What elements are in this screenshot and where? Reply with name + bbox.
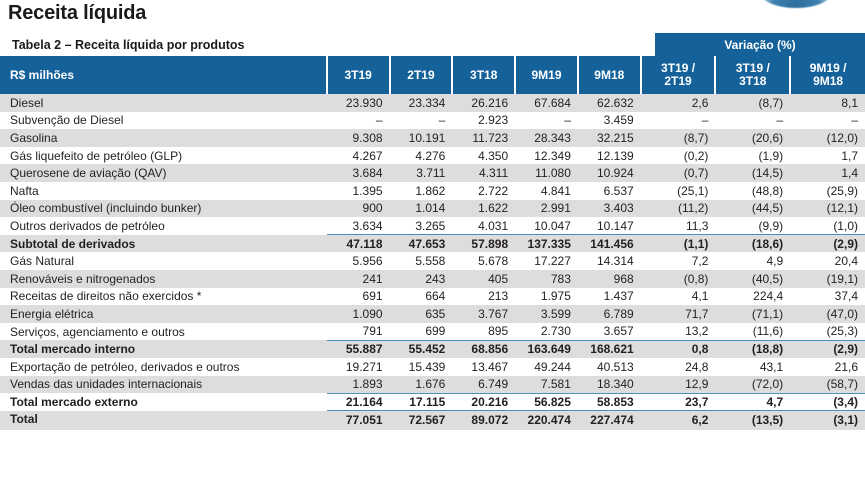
cell-value: 4.350 bbox=[452, 147, 515, 165]
cell-value: 72.567 bbox=[390, 411, 453, 429]
cell-value: 67.684 bbox=[515, 94, 578, 112]
cell-value: (18,8) bbox=[715, 340, 790, 358]
cell-value: 6.749 bbox=[452, 376, 515, 394]
cell-value: 5.558 bbox=[390, 252, 453, 270]
cell-value: 405 bbox=[452, 270, 515, 288]
variation-group-header: Variação (%) bbox=[655, 33, 865, 56]
row-label: Gás liquefeito de petróleo (GLP) bbox=[0, 147, 327, 165]
cell-value: (11,2) bbox=[641, 200, 716, 218]
table-row: Renováveis e nitrogenados241243405783968… bbox=[0, 270, 865, 288]
table-row: Gasolina9.30810.19111.72328.34332.215(8,… bbox=[0, 129, 865, 147]
cell-value: 21,6 bbox=[790, 358, 865, 376]
cell-value: 6,2 bbox=[641, 411, 716, 429]
cell-value: 2,6 bbox=[641, 94, 716, 112]
cell-value: 23,7 bbox=[641, 393, 716, 411]
cell-value: 6.537 bbox=[578, 182, 641, 200]
table-row: Receitas de direitos não exercidos *6916… bbox=[0, 288, 865, 306]
cell-value: (12,1) bbox=[790, 200, 865, 218]
header-row: R$ milhões 3T19 2T19 3T18 9M19 9M18 3T19… bbox=[0, 56, 865, 94]
cell-value: (0,8) bbox=[641, 270, 716, 288]
cell-value: 1,7 bbox=[790, 147, 865, 165]
row-label: Receitas de direitos não exercidos * bbox=[0, 288, 327, 306]
cell-value: 791 bbox=[327, 323, 390, 341]
cell-value: (2,9) bbox=[790, 340, 865, 358]
var-header-bottom-2: 9M18 bbox=[798, 75, 858, 88]
cell-value: 900 bbox=[327, 200, 390, 218]
cell-value: 12.349 bbox=[515, 147, 578, 165]
cell-value: 168.621 bbox=[578, 340, 641, 358]
cell-value: (40,5) bbox=[715, 270, 790, 288]
cell-value: 1.893 bbox=[327, 376, 390, 394]
cell-value: 32.215 bbox=[578, 129, 641, 147]
cell-value: 19.271 bbox=[327, 358, 390, 376]
cell-value: 3.599 bbox=[515, 305, 578, 323]
cell-value: 13,2 bbox=[641, 323, 716, 341]
cell-value: 47.118 bbox=[327, 235, 390, 253]
row-label: Subvenção de Diesel bbox=[0, 112, 327, 130]
cell-value: 7.581 bbox=[515, 376, 578, 394]
cell-value: 1.395 bbox=[327, 182, 390, 200]
cell-value: 49.244 bbox=[515, 358, 578, 376]
cell-value: 71,7 bbox=[641, 305, 716, 323]
cell-value: 8,1 bbox=[790, 94, 865, 112]
column-header-3t18: 3T18 bbox=[452, 56, 515, 94]
cell-value: 2.991 bbox=[515, 200, 578, 218]
row-label: Gás Natural bbox=[0, 252, 327, 270]
row-label: Querosene de aviação (QAV) bbox=[0, 164, 327, 182]
cell-value: 691 bbox=[327, 288, 390, 306]
cell-value: 2.730 bbox=[515, 323, 578, 341]
cell-value: 3.634 bbox=[327, 217, 390, 235]
var-header-top-2: 9M19 / bbox=[798, 62, 858, 75]
table-caption-row: Tabela 2 – Receita líquida por produtos … bbox=[0, 25, 865, 56]
cell-value: 0,8 bbox=[641, 340, 716, 358]
row-label: Nafta bbox=[0, 182, 327, 200]
cell-value: 37,4 bbox=[790, 288, 865, 306]
cell-value: (13,5) bbox=[715, 411, 790, 429]
cell-value: 1.862 bbox=[390, 182, 453, 200]
cell-value: 18.340 bbox=[578, 376, 641, 394]
cell-value: 243 bbox=[390, 270, 453, 288]
cell-value: 220.474 bbox=[515, 411, 578, 429]
cell-value: 1.676 bbox=[390, 376, 453, 394]
cell-value: (8,7) bbox=[641, 129, 716, 147]
cell-value: 5.678 bbox=[452, 252, 515, 270]
cell-value: 1.975 bbox=[515, 288, 578, 306]
row-label: Vendas das unidades internacionais bbox=[0, 376, 327, 394]
cell-value: – bbox=[641, 112, 716, 130]
cell-value: 9.308 bbox=[327, 129, 390, 147]
row-label: Óleo combustível (incluindo bunker) bbox=[0, 200, 327, 218]
cell-value: 7,2 bbox=[641, 252, 716, 270]
cell-value: (25,9) bbox=[790, 182, 865, 200]
cell-value: – bbox=[327, 112, 390, 130]
row-label: Outros derivados de petróleo bbox=[0, 217, 327, 235]
column-header-3t19: 3T19 bbox=[327, 56, 390, 94]
table-row: Diesel23.93023.33426.21667.68462.6322,6(… bbox=[0, 94, 865, 112]
cell-value: 1.437 bbox=[578, 288, 641, 306]
cell-value: 55.887 bbox=[327, 340, 390, 358]
cell-value: 137.335 bbox=[515, 235, 578, 253]
cell-value: 26.216 bbox=[452, 94, 515, 112]
table-row: Exportação de petróleo, derivados e outr… bbox=[0, 358, 865, 376]
cell-value: 4,7 bbox=[715, 393, 790, 411]
cell-value: 227.474 bbox=[578, 411, 641, 429]
cell-value: 58.853 bbox=[578, 393, 641, 411]
cell-value: – bbox=[790, 112, 865, 130]
table-row: Total77.05172.56789.072220.474227.4746,2… bbox=[0, 411, 865, 429]
cell-value: 4.267 bbox=[327, 147, 390, 165]
cell-value: 4,1 bbox=[641, 288, 716, 306]
table-row: Outros derivados de petróleo3.6343.2654.… bbox=[0, 217, 865, 235]
table-row: Gás Natural5.9565.5585.67817.22714.3147,… bbox=[0, 252, 865, 270]
cell-value: 10.047 bbox=[515, 217, 578, 235]
cell-value: 17.115 bbox=[390, 393, 453, 411]
cell-value: (44,5) bbox=[715, 200, 790, 218]
cell-value: (1,9) bbox=[715, 147, 790, 165]
cell-value: (71,1) bbox=[715, 305, 790, 323]
cell-value: 55.452 bbox=[390, 340, 453, 358]
cell-value: 664 bbox=[390, 288, 453, 306]
cell-value: 12.139 bbox=[578, 147, 641, 165]
table-row: Querosene de aviação (QAV)3.6843.7114.31… bbox=[0, 164, 865, 182]
cell-value: 4.841 bbox=[515, 182, 578, 200]
row-label: Subtotal de derivados bbox=[0, 235, 327, 253]
var-header-top-0: 3T19 / bbox=[649, 62, 708, 75]
cell-value: – bbox=[515, 112, 578, 130]
cell-value: (3,1) bbox=[790, 411, 865, 429]
table-row: Nafta1.3951.8622.7224.8416.537(25,1)(48,… bbox=[0, 182, 865, 200]
column-header-9m18: 9M18 bbox=[578, 56, 641, 94]
cell-value: 6.789 bbox=[578, 305, 641, 323]
cell-value: 28.343 bbox=[515, 129, 578, 147]
table-row: Serviços, agenciamento e outros791699895… bbox=[0, 323, 865, 341]
cell-value: (8,7) bbox=[715, 94, 790, 112]
cell-value: 10.147 bbox=[578, 217, 641, 235]
cell-value: 1.090 bbox=[327, 305, 390, 323]
cell-value: 20.216 bbox=[452, 393, 515, 411]
cell-value: (58,7) bbox=[790, 376, 865, 394]
cell-value: (1,1) bbox=[641, 235, 716, 253]
cell-value: 11,3 bbox=[641, 217, 716, 235]
cell-value: 1,4 bbox=[790, 164, 865, 182]
column-header-var-9m19-9m18: 9M19 / 9M18 bbox=[790, 56, 865, 94]
cell-value: 17.227 bbox=[515, 252, 578, 270]
cell-value: (3,4) bbox=[790, 393, 865, 411]
cell-value: 14.314 bbox=[578, 252, 641, 270]
var-header-bottom-0: 2T19 bbox=[649, 75, 708, 88]
var-header-top-1: 3T19 / bbox=[723, 62, 782, 75]
cell-value: (12,0) bbox=[790, 129, 865, 147]
column-header-2t19: 2T19 bbox=[390, 56, 453, 94]
cell-value: (11,6) bbox=[715, 323, 790, 341]
row-label: Total mercado interno bbox=[0, 340, 327, 358]
cell-value: 10.191 bbox=[390, 129, 453, 147]
table-head: R$ milhões 3T19 2T19 3T18 9M19 9M18 3T19… bbox=[0, 56, 865, 94]
row-label: Renováveis e nitrogenados bbox=[0, 270, 327, 288]
table-row: Vendas das unidades internacionais1.8931… bbox=[0, 376, 865, 394]
cell-value: (0,7) bbox=[641, 164, 716, 182]
cell-value: 783 bbox=[515, 270, 578, 288]
cell-value: (19,1) bbox=[790, 270, 865, 288]
cell-value: (25,1) bbox=[641, 182, 716, 200]
cell-value: – bbox=[390, 112, 453, 130]
cell-value: 77.051 bbox=[327, 411, 390, 429]
cell-value: 20,4 bbox=[790, 252, 865, 270]
cell-value: 3.657 bbox=[578, 323, 641, 341]
cell-value: 5.956 bbox=[327, 252, 390, 270]
column-header-9m19: 9M19 bbox=[515, 56, 578, 94]
cell-value: 11.723 bbox=[452, 129, 515, 147]
net-revenue-table: R$ milhões 3T19 2T19 3T18 9M19 9M18 3T19… bbox=[0, 56, 865, 428]
cell-value: 141.456 bbox=[578, 235, 641, 253]
row-label: Gasolina bbox=[0, 129, 327, 147]
cell-value: 3.684 bbox=[327, 164, 390, 182]
row-label: Exportação de petróleo, derivados e outr… bbox=[0, 358, 327, 376]
var-header-bottom-1: 3T18 bbox=[723, 75, 782, 88]
cell-value: 23.334 bbox=[390, 94, 453, 112]
cell-value: 3.459 bbox=[578, 112, 641, 130]
page-title: Receita líquida bbox=[0, 0, 865, 25]
cell-value: 57.898 bbox=[452, 235, 515, 253]
cell-value: 213 bbox=[452, 288, 515, 306]
cell-value: 2.722 bbox=[452, 182, 515, 200]
cell-value: 4.031 bbox=[452, 217, 515, 235]
cell-value: 40.513 bbox=[578, 358, 641, 376]
cell-value: 21.164 bbox=[327, 393, 390, 411]
cell-value: 62.632 bbox=[578, 94, 641, 112]
cell-value: 15.439 bbox=[390, 358, 453, 376]
table-bottom-rule bbox=[0, 428, 865, 430]
cell-value: (47,0) bbox=[790, 305, 865, 323]
cell-value: 895 bbox=[452, 323, 515, 341]
cell-value: 56.825 bbox=[515, 393, 578, 411]
cell-value: (14,5) bbox=[715, 164, 790, 182]
cell-value: 968 bbox=[578, 270, 641, 288]
cell-value: 635 bbox=[390, 305, 453, 323]
cell-value: 1.622 bbox=[452, 200, 515, 218]
cell-value: 43,1 bbox=[715, 358, 790, 376]
cell-value: (72,0) bbox=[715, 376, 790, 394]
cell-value: 224,4 bbox=[715, 288, 790, 306]
cell-value: 1.014 bbox=[390, 200, 453, 218]
cell-value: (1,0) bbox=[790, 217, 865, 235]
cell-value: 4.311 bbox=[452, 164, 515, 182]
cell-value: (0,2) bbox=[641, 147, 716, 165]
cell-value: 3.767 bbox=[452, 305, 515, 323]
cell-value: 10.924 bbox=[578, 164, 641, 182]
cell-value: 24,8 bbox=[641, 358, 716, 376]
cell-value: 699 bbox=[390, 323, 453, 341]
cell-value: (2,9) bbox=[790, 235, 865, 253]
cell-value: 89.072 bbox=[452, 411, 515, 429]
cell-value: (25,3) bbox=[790, 323, 865, 341]
table-row: Total mercado externo21.16417.11520.2165… bbox=[0, 393, 865, 411]
column-header-var-3t19-3t18: 3T19 / 3T18 bbox=[715, 56, 790, 94]
cell-value: 3.403 bbox=[578, 200, 641, 218]
cell-value: 11.080 bbox=[515, 164, 578, 182]
cell-value: 2.923 bbox=[452, 112, 515, 130]
table-row: Energia elétrica1.0906353.7673.5996.7897… bbox=[0, 305, 865, 323]
table-body: Diesel23.93023.33426.21667.68462.6322,6(… bbox=[0, 94, 865, 428]
table-row: Total mercado interno55.88755.45268.8561… bbox=[0, 340, 865, 358]
row-label: Diesel bbox=[0, 94, 327, 112]
row-label: Total bbox=[0, 411, 327, 429]
cell-value: 4.276 bbox=[390, 147, 453, 165]
cell-value: 12,9 bbox=[641, 376, 716, 394]
cell-value: 163.649 bbox=[515, 340, 578, 358]
cell-value: 3.711 bbox=[390, 164, 453, 182]
cell-value: (48,8) bbox=[715, 182, 790, 200]
column-header-var-3t19-2t19: 3T19 / 2T19 bbox=[641, 56, 716, 94]
cell-value: 13.467 bbox=[452, 358, 515, 376]
cell-value: – bbox=[715, 112, 790, 130]
cell-value: (9,9) bbox=[715, 217, 790, 235]
cell-value: 47.653 bbox=[390, 235, 453, 253]
table-row: Óleo combustível (incluindo bunker)9001.… bbox=[0, 200, 865, 218]
table-row: Subvenção de Diesel––2.923–3.459––– bbox=[0, 112, 865, 130]
row-label: Energia elétrica bbox=[0, 305, 327, 323]
row-label: Total mercado externo bbox=[0, 393, 327, 411]
cell-value: 23.930 bbox=[327, 94, 390, 112]
cell-value: (18,6) bbox=[715, 235, 790, 253]
cell-value: 68.856 bbox=[452, 340, 515, 358]
table-row: Subtotal de derivados47.11847.65357.8981… bbox=[0, 235, 865, 253]
cell-value: 3.265 bbox=[390, 217, 453, 235]
column-header-label: R$ milhões bbox=[0, 56, 327, 94]
cell-value: 4,9 bbox=[715, 252, 790, 270]
cell-value: (20,6) bbox=[715, 129, 790, 147]
cell-value: 241 bbox=[327, 270, 390, 288]
table-row: Gás liquefeito de petróleo (GLP)4.2674.2… bbox=[0, 147, 865, 165]
row-label: Serviços, agenciamento e outros bbox=[0, 323, 327, 341]
